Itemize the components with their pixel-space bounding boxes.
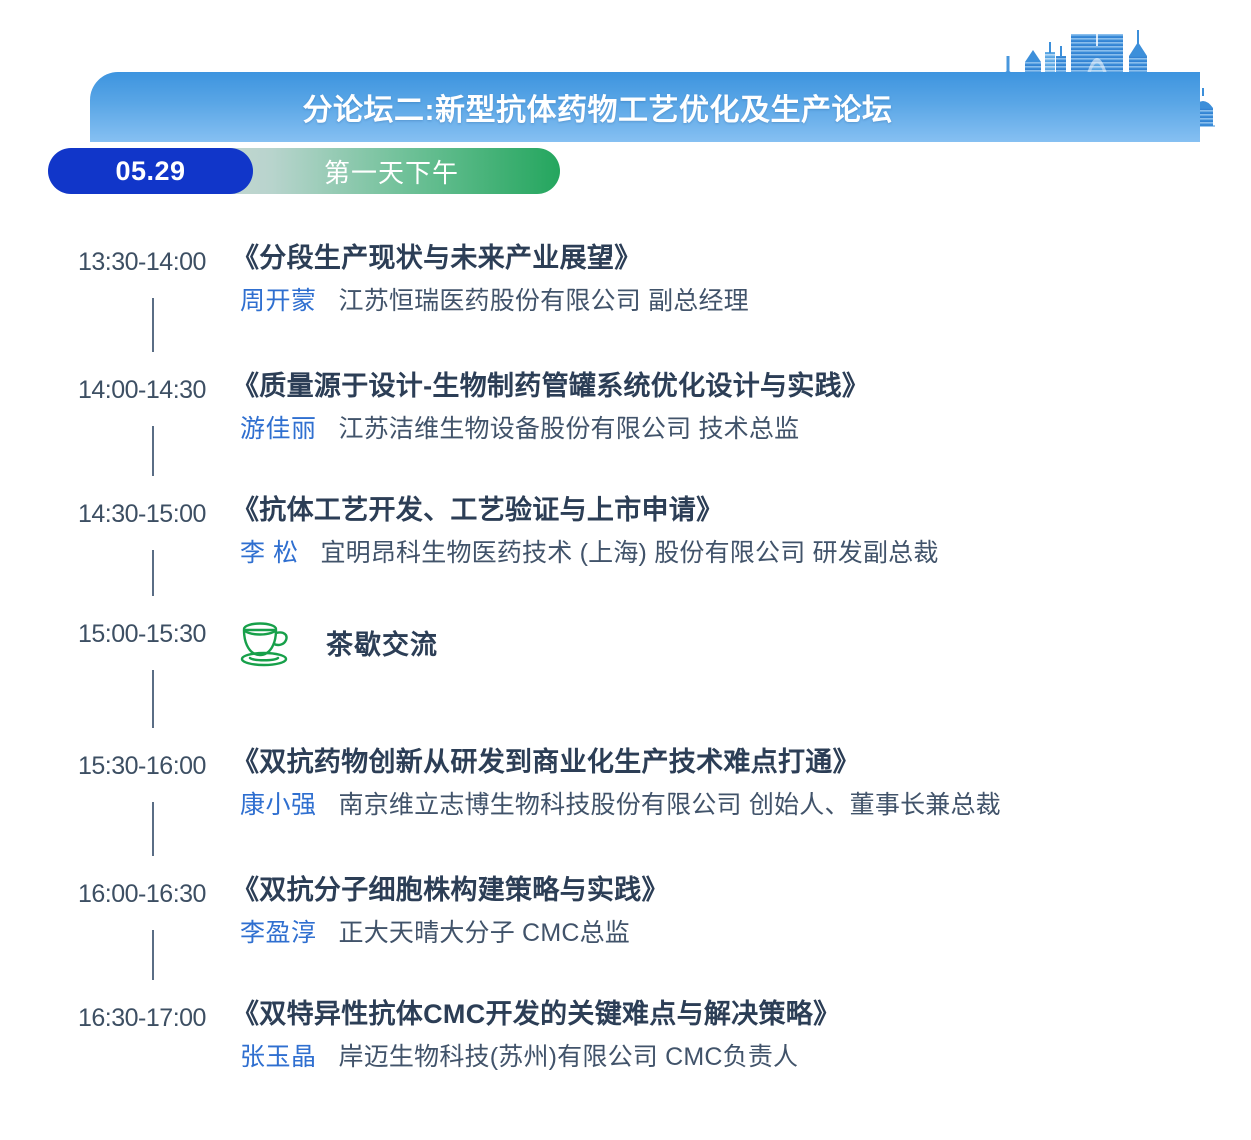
- session-content: 《双抗药物创新从研发到商业化生产技术难点打通》康小强南京维立志博生物科技股份有限…: [232, 740, 1251, 823]
- session-content: 茶歇交流: [232, 608, 1251, 670]
- agenda-list: 13:30-14:00《分段生产现状与未来产业展望》周开蒙江苏恒瑞医药股份有限公…: [0, 236, 1251, 1102]
- speaker-line: 周开蒙江苏恒瑞医药股份有限公司 副总经理: [232, 284, 1251, 319]
- session-content: 《双特异性抗体CMC开发的关键难点与解决策略》张玉晶岸迈生物科技(苏州)有限公司…: [232, 992, 1251, 1075]
- session-title: 《分段生产现状与未来产业展望》: [232, 240, 1251, 276]
- speaker-affiliation: 江苏洁维生物设备股份有限公司 技术总监: [339, 415, 800, 443]
- session-title: 《双特异性抗体CMC开发的关键难点与解决策略》: [232, 996, 1251, 1032]
- session-content: 《分段生产现状与未来产业展望》周开蒙江苏恒瑞医药股份有限公司 副总经理: [232, 236, 1251, 319]
- session-title: 《双抗药物创新从研发到商业化生产技术难点打通》: [232, 744, 1251, 780]
- agenda-row: 14:30-15:00《抗体工艺开发、工艺验证与上市申请》李 松宜明昂科生物医药…: [0, 488, 1251, 608]
- time-column: 14:00-14:30: [0, 364, 232, 405]
- timeline-connector: [152, 298, 154, 352]
- session-content: 《抗体工艺开发、工艺验证与上市申请》李 松宜明昂科生物医药技术 (上海) 股份有…: [232, 488, 1251, 571]
- agenda-page: 分论坛二:新型抗体药物工艺优化及生产论坛 第一天下午 05.29 13:30-1…: [0, 0, 1251, 1140]
- speaker-affiliation: 正大天晴大分子 CMC总监: [339, 919, 630, 947]
- session-content: 《双抗分子细胞株构建策略与实践》李盈淳正大天晴大分子 CMC总监: [232, 868, 1251, 951]
- speaker-affiliation: 江苏恒瑞医药股份有限公司 副总经理: [339, 287, 749, 315]
- speaker-line: 康小强南京维立志博生物科技股份有限公司 创始人、董事长兼总裁: [232, 788, 1251, 823]
- speaker-line: 张玉晶岸迈生物科技(苏州)有限公司 CMC负责人: [232, 1040, 1251, 1075]
- teacup-icon: [234, 614, 296, 670]
- time-column: 14:30-15:00: [0, 488, 232, 529]
- time-label: 15:30-16:00: [78, 752, 232, 781]
- speaker-name: 康小强: [240, 791, 317, 819]
- speaker-line: 游佳丽江苏洁维生物设备股份有限公司 技术总监: [232, 412, 1251, 447]
- speaker-affiliation: 岸迈生物科技(苏州)有限公司 CMC负责人: [339, 1043, 799, 1071]
- speaker-name: 李盈淳: [240, 919, 317, 947]
- speaker-line: 李盈淳正大天晴大分子 CMC总监: [232, 916, 1251, 951]
- agenda-row: 14:00-14:30《质量源于设计-生物制药管罐系统优化设计与实践》游佳丽江苏…: [0, 364, 1251, 488]
- timeline-connector: [152, 426, 154, 476]
- session-title: 《双抗分子细胞株构建策略与实践》: [232, 872, 1251, 908]
- speaker-name: 张玉晶: [240, 1043, 317, 1071]
- speaker-affiliation: 宜明昂科生物医药技术 (上海) 股份有限公司 研发副总裁: [320, 539, 938, 567]
- time-label: 13:30-14:00: [78, 248, 232, 277]
- time-column: 16:30-17:00: [0, 992, 232, 1033]
- session-title: 《质量源于设计-生物制药管罐系统优化设计与实践》: [232, 368, 1251, 404]
- agenda-row: 16:30-17:00《双特异性抗体CMC开发的关键难点与解决策略》张玉晶岸迈生…: [0, 992, 1251, 1102]
- agenda-break-row: 15:00-15:30 茶歇交流: [0, 608, 1251, 740]
- timeline-connector: [152, 802, 154, 856]
- date-badge: 05.29: [48, 148, 253, 194]
- time-column: 16:00-16:30: [0, 868, 232, 909]
- time-label: 16:00-16:30: [78, 880, 232, 909]
- break-label: 茶歇交流: [326, 623, 438, 662]
- agenda-row: 13:30-14:00《分段生产现状与未来产业展望》周开蒙江苏恒瑞医药股份有限公…: [0, 236, 1251, 364]
- speaker-name: 李 松: [240, 539, 298, 567]
- timeline-connector: [152, 670, 154, 728]
- time-label: 14:00-14:30: [78, 376, 232, 405]
- time-column: 15:30-16:00: [0, 740, 232, 781]
- time-label: 15:00-15:30: [78, 620, 232, 649]
- page-title: 分论坛二:新型抗体药物工艺优化及生产论坛: [90, 85, 1200, 129]
- forum-header-banner: 分论坛二:新型抗体药物工艺优化及生产论坛: [90, 72, 1200, 142]
- time-column: 15:00-15:30: [0, 608, 232, 649]
- timeline-connector: [152, 930, 154, 980]
- agenda-row: 16:00-16:30《双抗分子细胞株构建策略与实践》李盈淳正大天晴大分子 CM…: [0, 868, 1251, 992]
- day-label-pill: 第一天下午: [208, 148, 560, 194]
- agenda-row: 15:30-16:00《双抗药物创新从研发到商业化生产技术难点打通》康小强南京维…: [0, 740, 1251, 868]
- session-content: 《质量源于设计-生物制药管罐系统优化设计与实践》游佳丽江苏洁维生物设备股份有限公…: [232, 364, 1251, 447]
- time-label: 16:30-17:00: [78, 1004, 232, 1033]
- speaker-name: 周开蒙: [240, 287, 317, 315]
- day-label: 第一天下午: [324, 153, 459, 190]
- speaker-line: 李 松宜明昂科生物医药技术 (上海) 股份有限公司 研发副总裁: [232, 536, 1251, 571]
- date-label: 05.29: [115, 156, 185, 187]
- time-column: 13:30-14:00: [0, 236, 232, 277]
- speaker-name: 游佳丽: [240, 415, 317, 443]
- time-label: 14:30-15:00: [78, 500, 232, 529]
- speaker-affiliation: 南京维立志博生物科技股份有限公司 创始人、董事长兼总裁: [339, 791, 1001, 819]
- session-title: 《抗体工艺开发、工艺验证与上市申请》: [232, 492, 1251, 528]
- timeline-connector: [152, 550, 154, 596]
